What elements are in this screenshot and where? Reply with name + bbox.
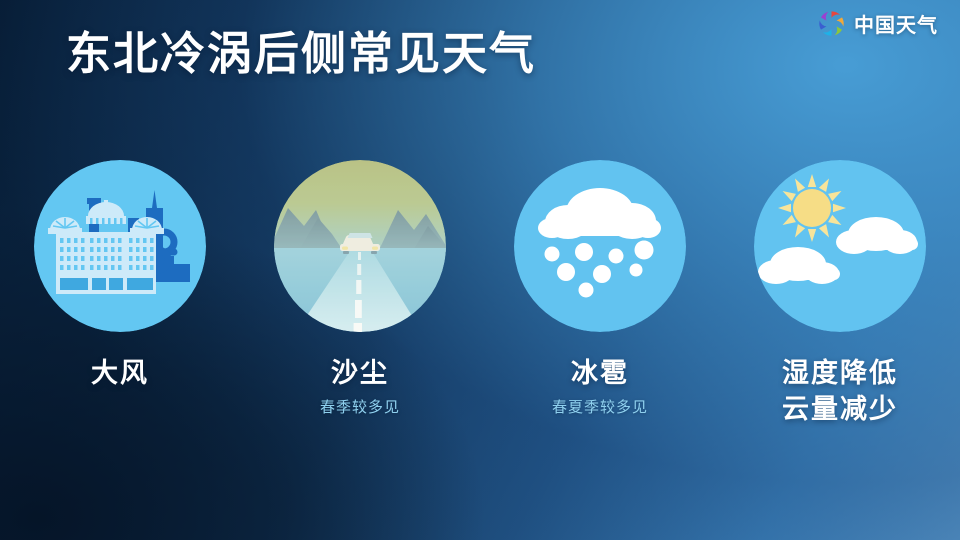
infographic-canvas: 东北冷涡后侧常见天气 中国天气 — [0, 0, 960, 540]
spiral-pinwheel-icon — [817, 9, 846, 38]
sun-clouds-icon — [754, 160, 926, 332]
brand-logo: 中国天气 — [817, 9, 938, 38]
wind-disc — [34, 160, 206, 332]
card-label: 冰雹 — [571, 356, 629, 392]
card-subtitle: 春夏季较多见 — [552, 396, 648, 417]
page-title: 东北冷涡后侧常见天气 — [66, 28, 536, 80]
dry-disc — [754, 160, 926, 332]
weather-card-dust[interactable]: 沙尘 春季较多见 — [240, 160, 480, 427]
city-wind-icon — [34, 160, 206, 332]
card-label: 大风 — [91, 356, 149, 392]
dusty-road-car-icon — [274, 160, 446, 332]
weather-card-wind[interactable]: 大风 — [0, 160, 240, 427]
card-label: 湿度降低 云量减少 — [782, 356, 898, 427]
weather-card-dry[interactable]: 湿度降低 云量减少 — [720, 160, 960, 427]
weather-card-hail[interactable]: 冰雹 春夏季较多见 — [480, 160, 720, 427]
dust-disc — [274, 160, 446, 332]
card-subtitle: 春季较多见 — [320, 396, 400, 417]
card-label: 沙尘 — [331, 356, 389, 392]
weather-cards-row: 大风 — [0, 160, 960, 427]
brand-name: 中国天气 — [854, 9, 938, 38]
cloud-hail-icon — [514, 160, 686, 332]
hail-disc — [514, 160, 686, 332]
